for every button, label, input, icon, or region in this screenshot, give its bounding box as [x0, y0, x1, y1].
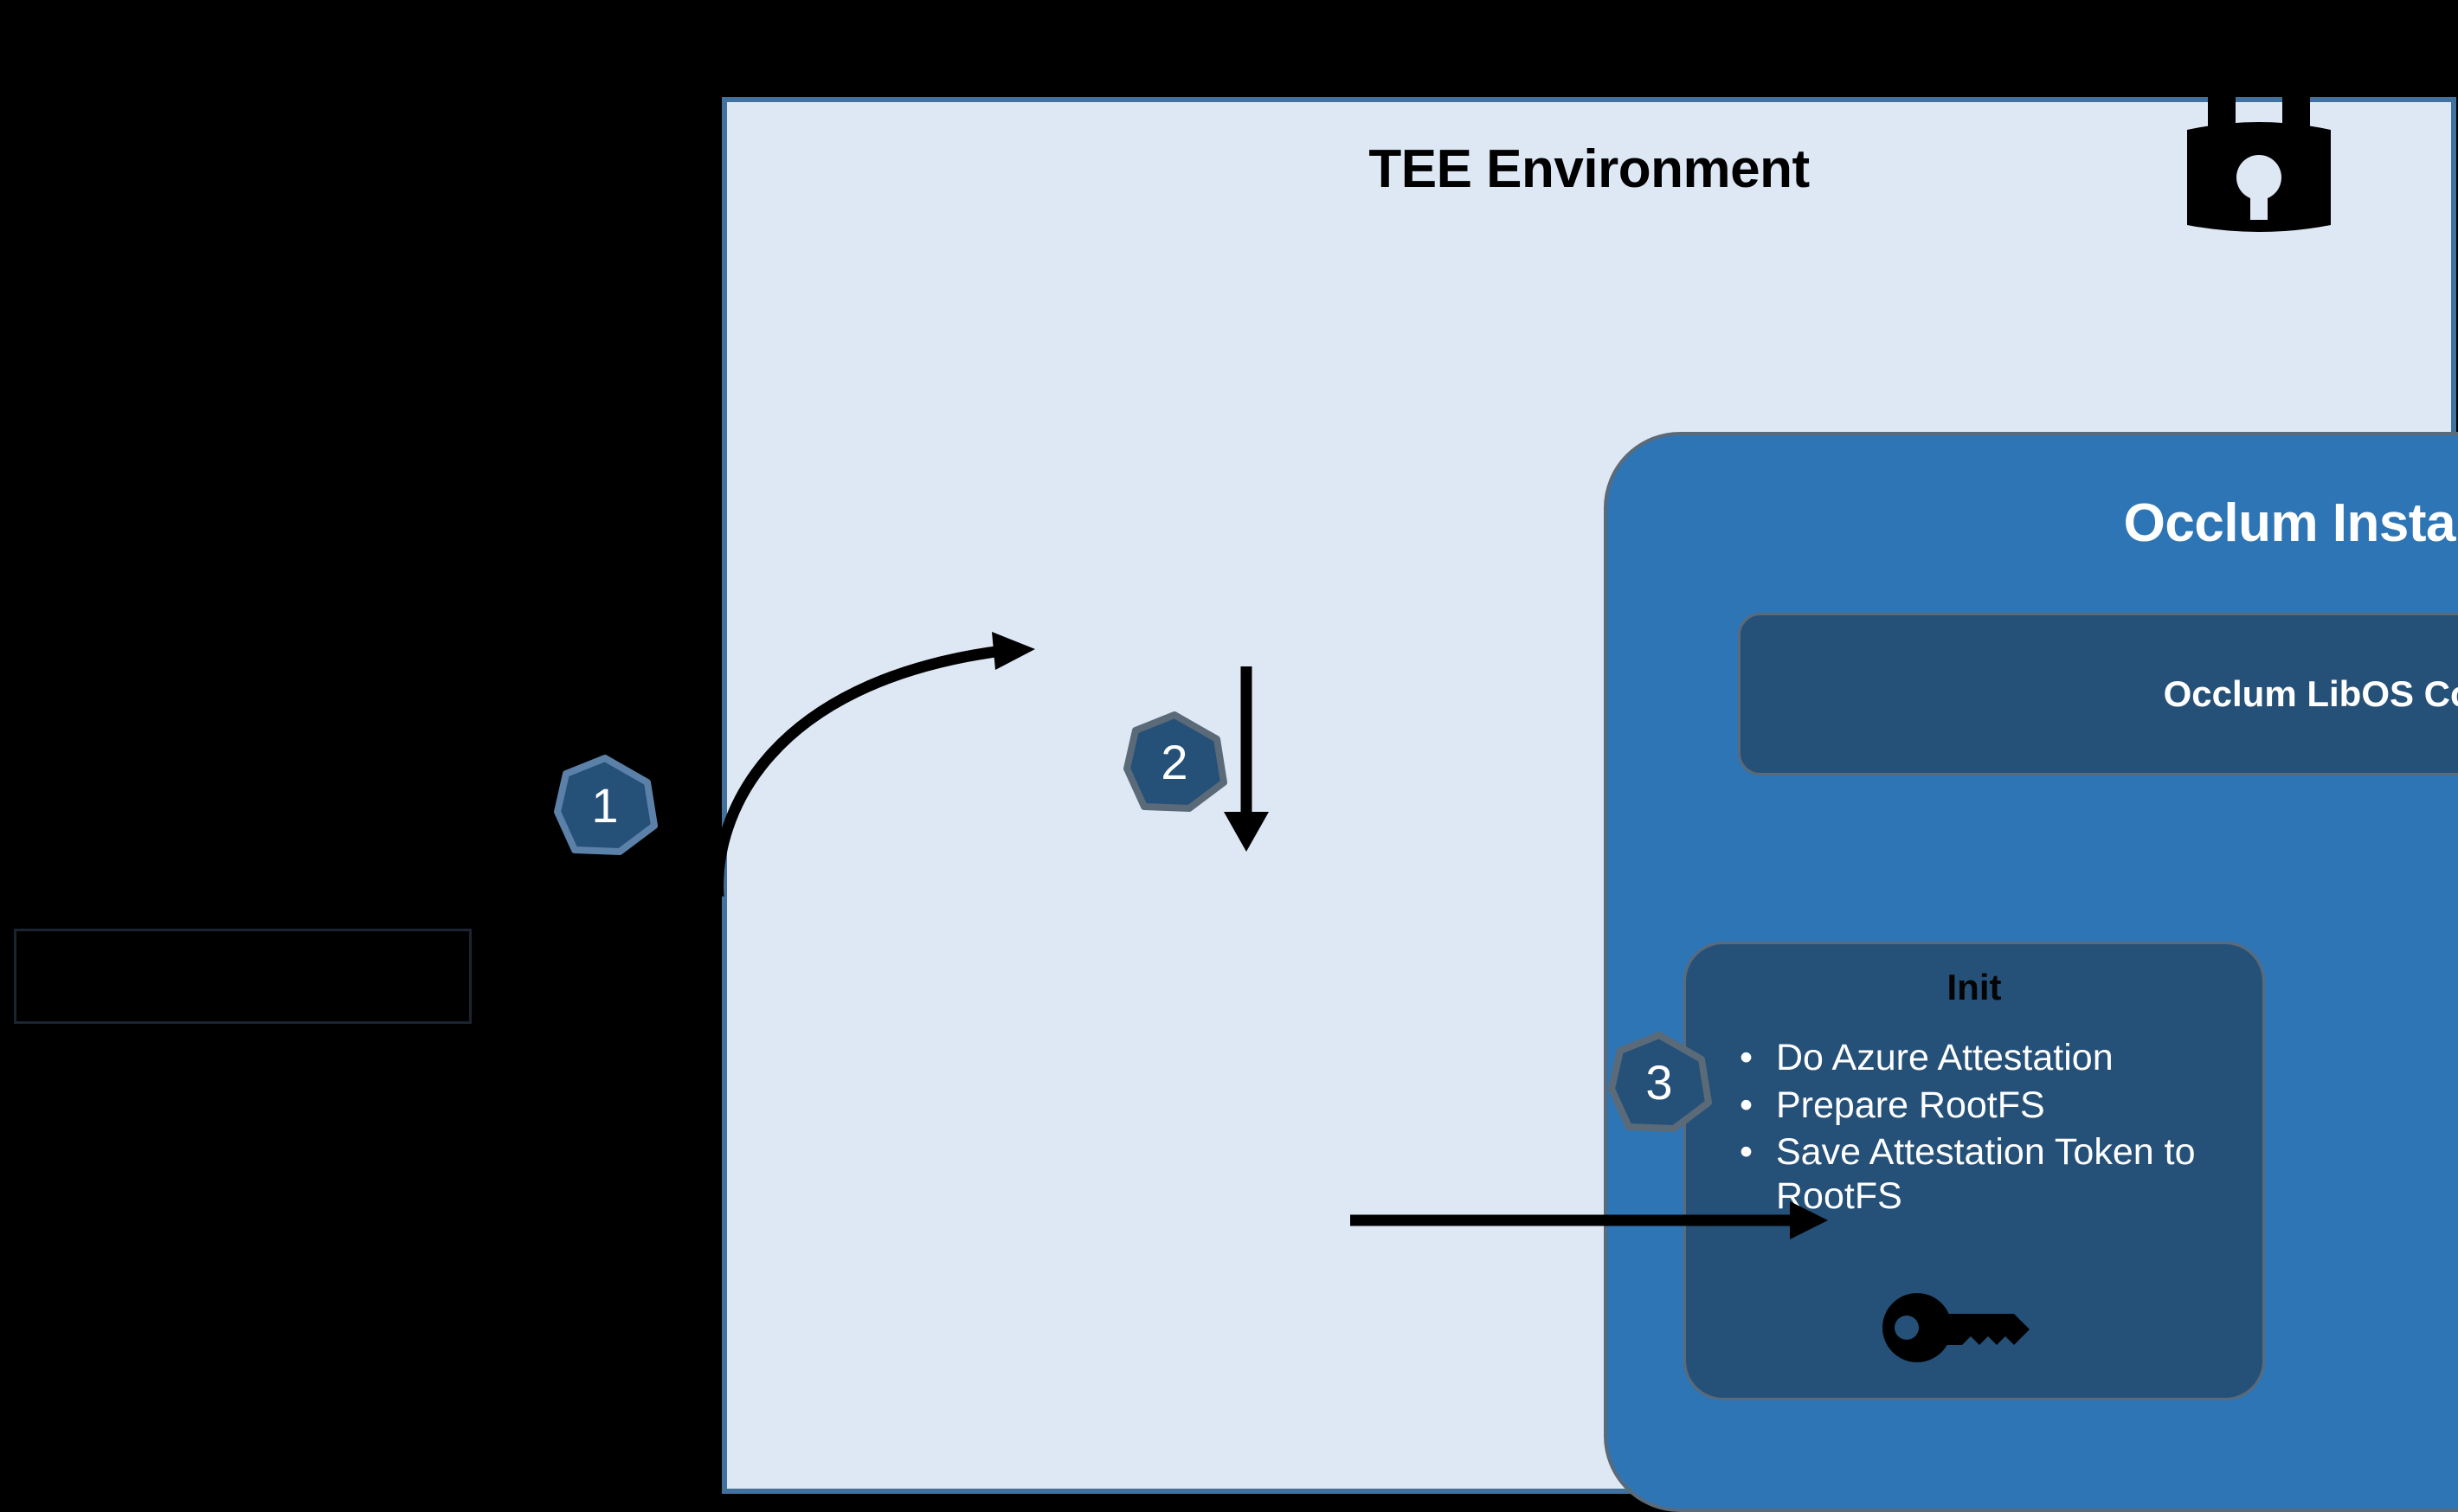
list-item: • Do Azure Attestation [1722, 1036, 2245, 1080]
list-item: • Prepare RootFS [1722, 1084, 2245, 1128]
init-panel-title: Init [1686, 967, 2262, 1008]
empty-placeholder-rectangle [14, 929, 472, 1024]
list-item: • Save Attestation Token to RootFS [1722, 1130, 2245, 1218]
step-badge-1: 1 [552, 755, 658, 855]
step-badge-1-number: 1 [552, 755, 658, 855]
bullet-glyph: • [1740, 1130, 1753, 1174]
lock-icon [2170, 54, 2348, 234]
occlum-libos-core-label: Occlum LibOS Core [2164, 673, 2458, 715]
list-item-label: Prepare RootFS [1776, 1084, 2045, 1126]
occlum-libos-core-box: Occlum LibOS Core [1738, 613, 2458, 775]
occlum-instance-title: Occlum Instance [1607, 492, 2458, 554]
list-item-label: Save Attestation Token to RootFS [1776, 1131, 2196, 1217]
step-badge-2: 2 [1122, 711, 1227, 812]
bullet-glyph: • [1740, 1036, 1753, 1080]
list-item-label: Do Azure Attestation [1776, 1037, 2114, 1078]
init-bullet-list: • Do Azure Attestation • Prepare RootFS … [1722, 1036, 2245, 1222]
key-icon [1882, 1290, 2037, 1366]
tee-environment-container: TEE Environment Occlum Instance Occlum L… [722, 97, 2456, 1494]
step-badge-2-number: 2 [1122, 711, 1227, 812]
step-badge-3-number: 3 [1606, 1032, 1712, 1132]
bullet-glyph: • [1740, 1084, 1753, 1128]
step-badge-3: 3 [1606, 1032, 1712, 1132]
